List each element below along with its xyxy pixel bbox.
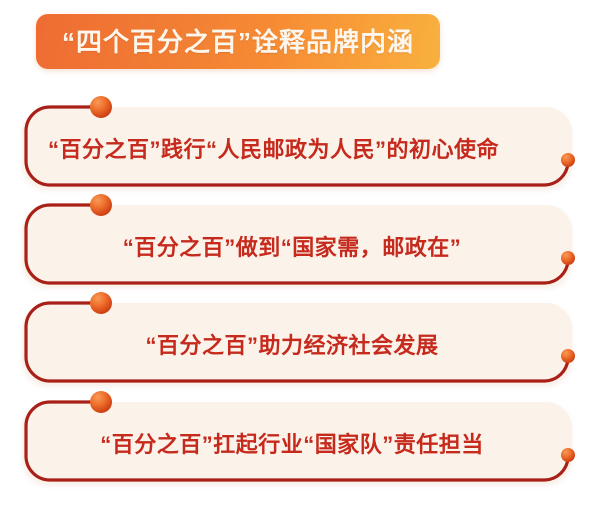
- list-item: “百分之百”践行“人民邮政为人民”的初心使命: [0, 95, 600, 195]
- list-item: “百分之百”做到“国家需，邮政在”: [0, 193, 600, 293]
- poster-canvas: “四个百分之百”诠释品牌内涵 “百分之百”践行“人民邮政为人民”的初心使命: [0, 0, 600, 519]
- item-label-text: “百分之百”扛起行业“国家队”责任担当: [100, 427, 484, 459]
- item-text: “百分之百”扛起行业“国家队”责任担当: [22, 402, 572, 484]
- item-label-text: “百分之百”践行“人民邮政为人民”的初心使命: [48, 132, 499, 164]
- page-title: “四个百分之百”诠释品牌内涵: [62, 29, 414, 55]
- list-item: “百分之百”扛起行业“国家队”责任担当: [0, 390, 600, 490]
- item-text: “百分之百”做到“国家需，邮政在”: [22, 205, 572, 287]
- item-text: “百分之百”践行“人民邮政为人民”的初心使命: [22, 107, 572, 189]
- item-label-text: “百分之百”做到“国家需，邮政在”: [123, 230, 462, 262]
- item-label-text: “百分之百”助力经济社会发展: [145, 328, 438, 360]
- title-banner: “四个百分之百”诠释品牌内涵: [36, 14, 440, 69]
- item-text: “百分之百”助力经济社会发展: [22, 303, 572, 385]
- list-item: “百分之百”助力经济社会发展: [0, 291, 600, 391]
